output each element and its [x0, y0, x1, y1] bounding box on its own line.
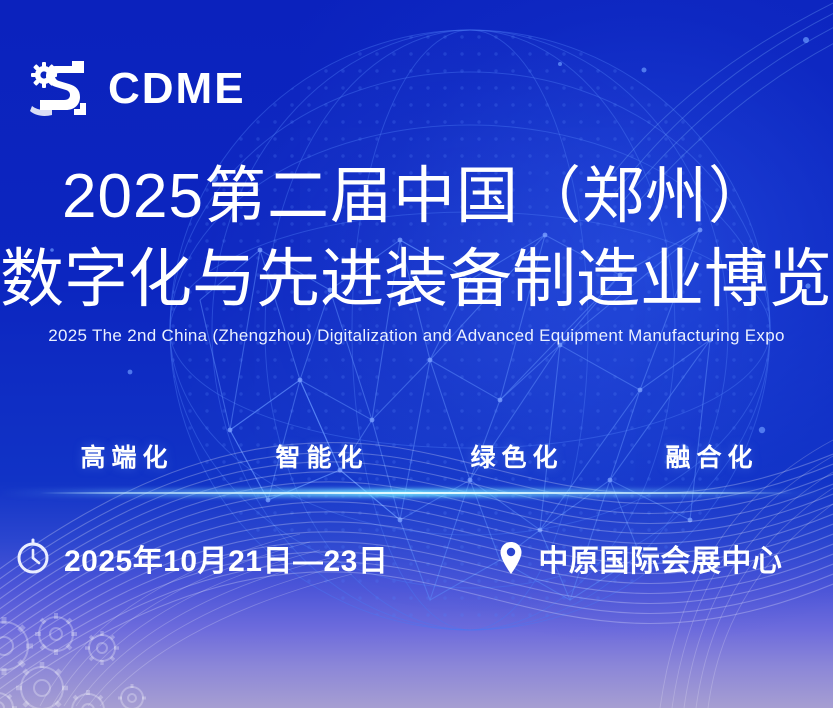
title-english: 2025 The 2nd China (Zhengzhou) Digitaliz…: [0, 324, 833, 348]
expo-poster: CDME 2025第二届中国（郑州） 数字化与先进装备制造业博览会 2025 T…: [0, 0, 833, 708]
logo-wordmark: CDME: [108, 67, 246, 111]
title-block: 2025第二届中国（郑州） 数字化与先进装备制造业博览会 2025 The 2n…: [0, 160, 833, 348]
keyword-item: 融合化: [660, 438, 759, 474]
event-venue: 中原国际会展中心: [496, 536, 782, 580]
keyword-item: 智能化: [269, 438, 368, 474]
title-line-1: 2025第二届中国（郑州）: [0, 160, 833, 234]
event-info-row: 2025年10月21日—23日 中原国际会展中心: [0, 536, 833, 580]
title-line-2: 数字化与先进装备制造业博览会: [0, 240, 833, 318]
clock-icon: [14, 538, 52, 578]
glow-divider: [0, 486, 833, 500]
keyword-item: 绿色化: [465, 438, 564, 474]
event-date: 2025年10月21日—23日: [14, 536, 388, 580]
keyword-list: 高端化 智能化 绿色化 融合化: [0, 438, 833, 474]
keyword-item: 高端化: [74, 438, 173, 474]
brand-logo: CDME: [22, 53, 246, 125]
divider-core-line: [40, 492, 793, 494]
event-venue-text: 中原国际会展中心: [538, 536, 782, 580]
event-date-text: 2025年10月21日—23日: [64, 536, 388, 580]
location-pin-icon: [496, 538, 526, 578]
cdme-s-gear-logo-icon: [22, 53, 94, 125]
